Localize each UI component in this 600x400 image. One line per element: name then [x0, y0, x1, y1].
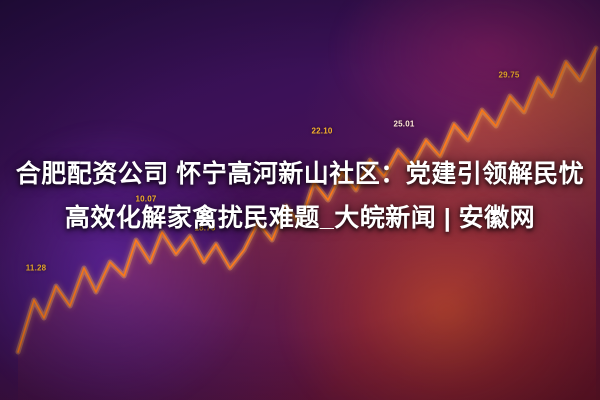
- data-label: 29.75: [498, 71, 519, 80]
- headline-line-1: 合肥配资公司 怀宁高河新山社区：党建引领解民忧: [4, 152, 596, 196]
- headline-overlay: 合肥配资公司 怀宁高河新山社区：党建引领解民忧 高效化解家禽扰民难题_大皖新闻 …: [0, 152, 600, 240]
- data-label: 22.10: [311, 127, 332, 136]
- headline-line-2: 高效化解家禽扰民难题_大皖新闻 | 安徽网: [4, 196, 596, 240]
- image-canvas: 29.7525.0122.1018.7510.0711.28 合肥配资公司 怀宁…: [0, 0, 600, 400]
- data-label: 25.01: [393, 120, 414, 129]
- data-label: 11.28: [26, 264, 47, 273]
